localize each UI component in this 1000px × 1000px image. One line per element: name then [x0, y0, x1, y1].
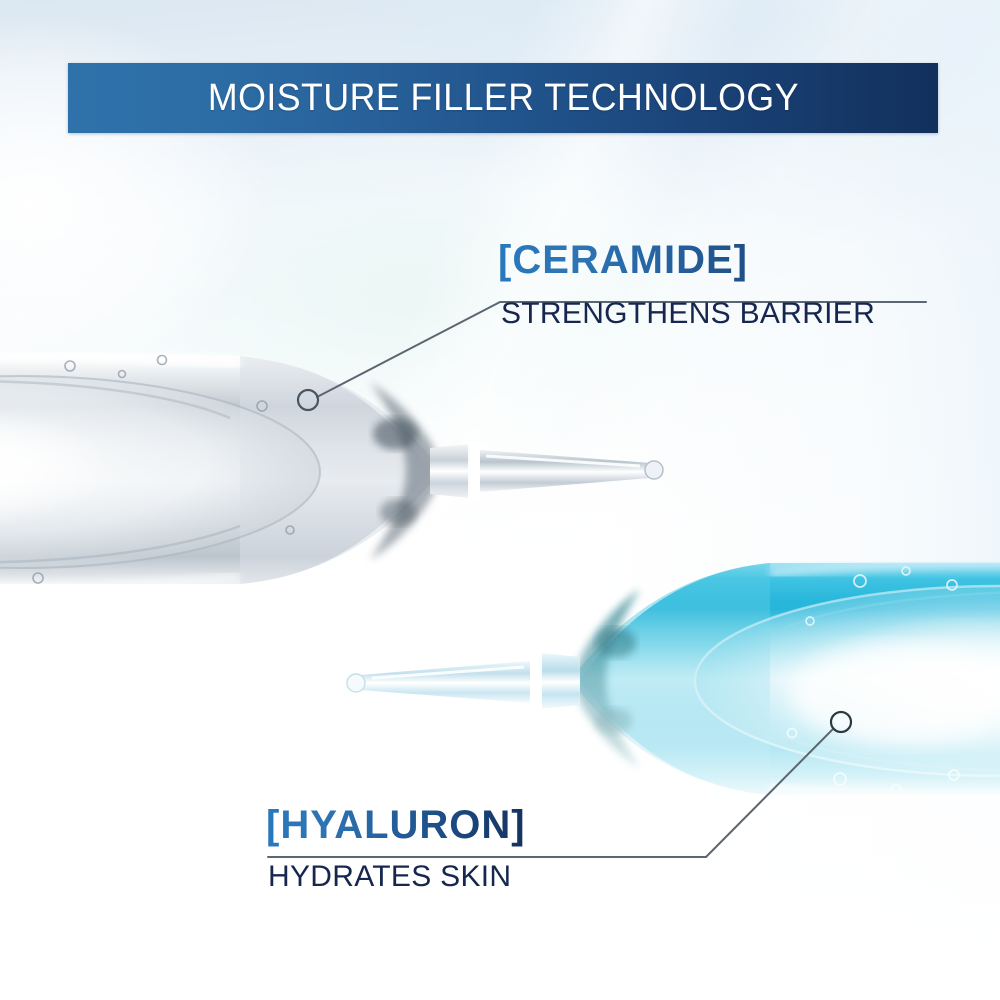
hyaluron-title: [HYALURON] — [266, 803, 526, 848]
header-banner: MOISTURE FILLER TECHNOLOGY — [68, 63, 938, 133]
page-title: MOISTURE FILLER TECHNOLOGY — [207, 77, 798, 120]
ceramide-subtitle: STRENGTHENS BARRIER — [501, 297, 875, 331]
hyaluron-subtitle: HYDRATES SKIN — [268, 860, 526, 894]
product-infographic: MOISTURE FILLER TECHNOLOGY [CERAMIDE] ST… — [0, 0, 1000, 1000]
ceramide-title: [CERAMIDE] — [498, 238, 875, 283]
callout-hyaluron: [HYALURON] HYDRATES SKIN — [266, 803, 526, 894]
callout-ceramide: [CERAMIDE] STRENGTHENS BARRIER — [498, 238, 875, 331]
